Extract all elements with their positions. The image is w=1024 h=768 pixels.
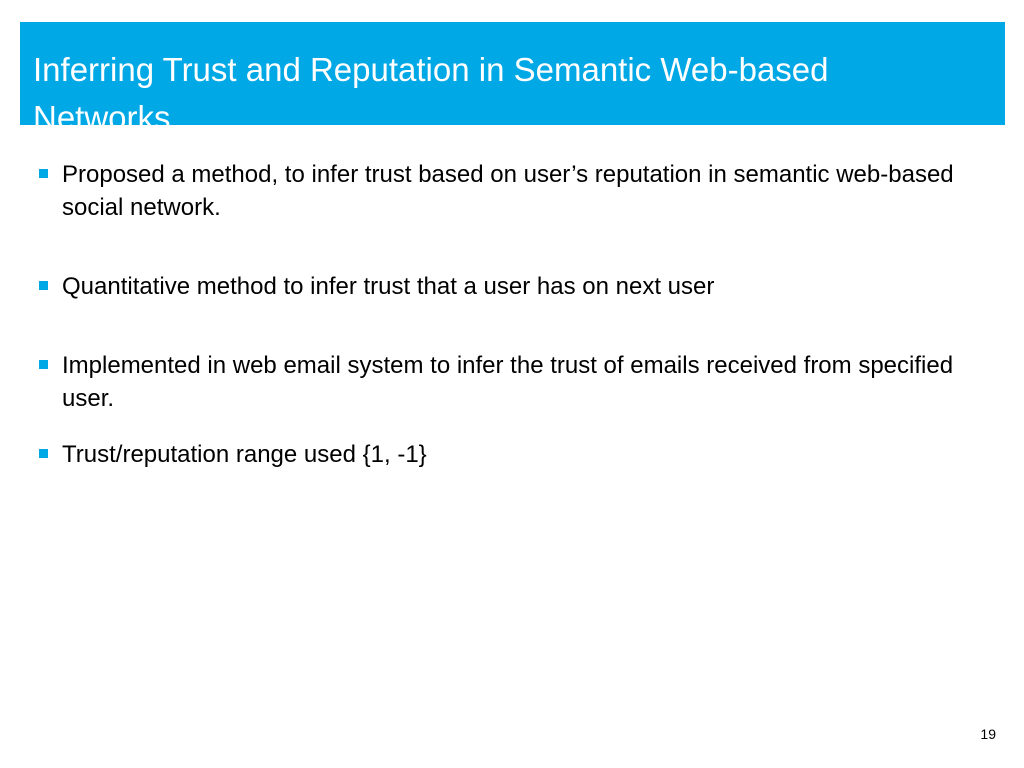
- list-item-text: Quantitative method to infer trust that …: [62, 270, 989, 303]
- square-bullet-icon: [39, 169, 48, 178]
- square-bullet-icon: [39, 449, 48, 458]
- slide-canvas: Inferring Trust and Reputation in Semant…: [0, 0, 1024, 768]
- square-bullet-icon: [39, 360, 48, 369]
- list-item: Trust/reputation range used {1, -1}: [39, 438, 989, 471]
- slide-title-band: Inferring Trust and Reputation in Semant…: [20, 22, 1005, 125]
- page-number: 19: [980, 726, 996, 742]
- list-item: Quantitative method to infer trust that …: [39, 270, 989, 303]
- square-bullet-icon: [39, 281, 48, 290]
- list-item-text: Proposed a method, to infer trust based …: [62, 158, 989, 224]
- list-item: Implemented in web email system to infer…: [39, 349, 989, 415]
- slide-title: Inferring Trust and Reputation in Semant…: [33, 46, 913, 142]
- list-item-text: Implemented in web email system to infer…: [62, 349, 989, 415]
- slide-body: Proposed a method, to infer trust based …: [39, 158, 989, 471]
- list-item-text: Trust/reputation range used {1, -1}: [62, 438, 989, 471]
- list-item: Proposed a method, to infer trust based …: [39, 158, 989, 224]
